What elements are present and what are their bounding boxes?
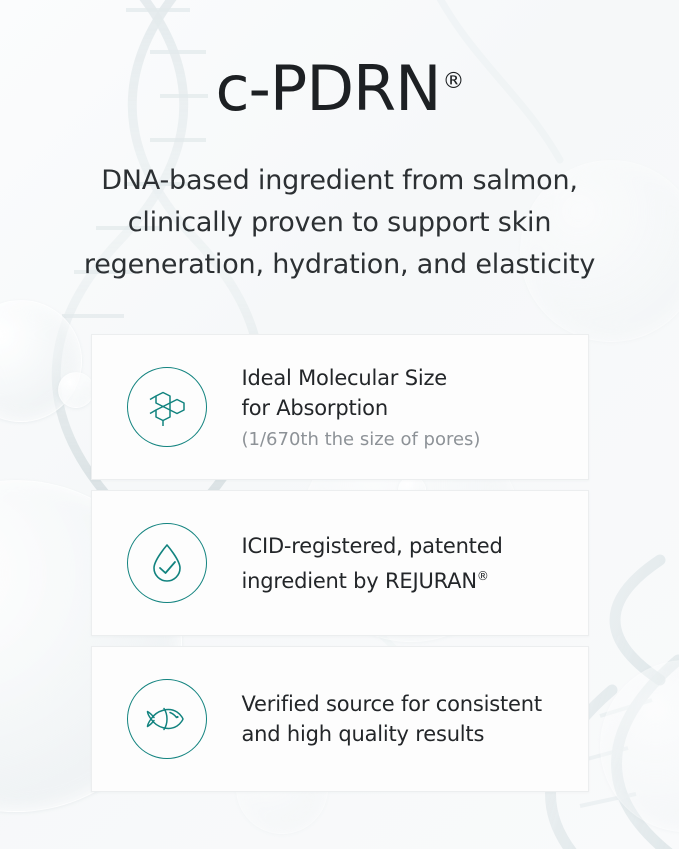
feature-card-list: Ideal Molecular Size for Absorption (1/6… bbox=[91, 334, 589, 792]
feature-card: ICID-registered, patented ingredient by … bbox=[91, 490, 589, 636]
icon-ring bbox=[127, 679, 207, 759]
feature-title: Ideal Molecular Size for Absorption bbox=[242, 363, 566, 423]
feature-title-line-1: Verified source for consistent bbox=[242, 689, 566, 719]
registered-mark: ® bbox=[443, 69, 464, 94]
feature-title-line-1: ICID-registered, patented bbox=[242, 531, 566, 561]
bubble-decor bbox=[600, 660, 679, 832]
feature-title: Verified source for consistent and high … bbox=[242, 689, 566, 749]
feature-text: Verified source for consistent and high … bbox=[242, 689, 588, 749]
brand-name: c-PDRN bbox=[215, 52, 440, 125]
feature-text: Ideal Molecular Size for Absorption (1/6… bbox=[242, 363, 588, 452]
icon-ring bbox=[127, 367, 207, 447]
feature-title-line-2: for Absorption bbox=[242, 393, 566, 423]
bubble-decor bbox=[58, 372, 94, 408]
feature-icon-wrap bbox=[92, 367, 242, 447]
feature-title-line-1: Ideal Molecular Size bbox=[242, 363, 566, 393]
feature-icon-wrap bbox=[92, 523, 242, 603]
subtitle-line-2: clinically proven to support skin bbox=[75, 202, 605, 244]
feature-text: ICID-registered, patented ingredient by … bbox=[242, 531, 588, 596]
feature-icon-wrap bbox=[92, 679, 242, 759]
brand-title: c-PDRN® bbox=[215, 58, 463, 120]
bubble-decor bbox=[0, 300, 82, 422]
feature-title-line-2: and high quality results bbox=[242, 719, 566, 749]
feature-title: ICID-registered, patented ingredient by … bbox=[242, 531, 566, 596]
subtitle: DNA-based ingredient from salmon, clinic… bbox=[75, 160, 605, 286]
feature-card: Ideal Molecular Size for Absorption (1/6… bbox=[91, 334, 589, 480]
icon-ring bbox=[127, 523, 207, 603]
fish-icon bbox=[142, 694, 192, 744]
product-infographic: c-PDRN® DNA-based ingredient from salmon… bbox=[0, 0, 679, 849]
feature-subtext: (1/670th the size of pores) bbox=[242, 428, 566, 452]
feature-title-line-2-text: ingredient by REJURAN bbox=[242, 569, 477, 593]
feature-title-line-2: ingredient by REJURAN® bbox=[242, 561, 566, 596]
water-drop-check-icon bbox=[144, 540, 190, 586]
registered-mark: ® bbox=[477, 569, 489, 583]
header: c-PDRN® DNA-based ingredient from salmon… bbox=[0, 0, 679, 286]
subtitle-line-3: regeneration, hydration, and elasticity bbox=[75, 244, 605, 286]
feature-card: Verified source for consistent and high … bbox=[91, 646, 589, 792]
molecule-icon bbox=[143, 383, 191, 431]
subtitle-line-1: DNA-based ingredient from salmon, bbox=[75, 160, 605, 202]
